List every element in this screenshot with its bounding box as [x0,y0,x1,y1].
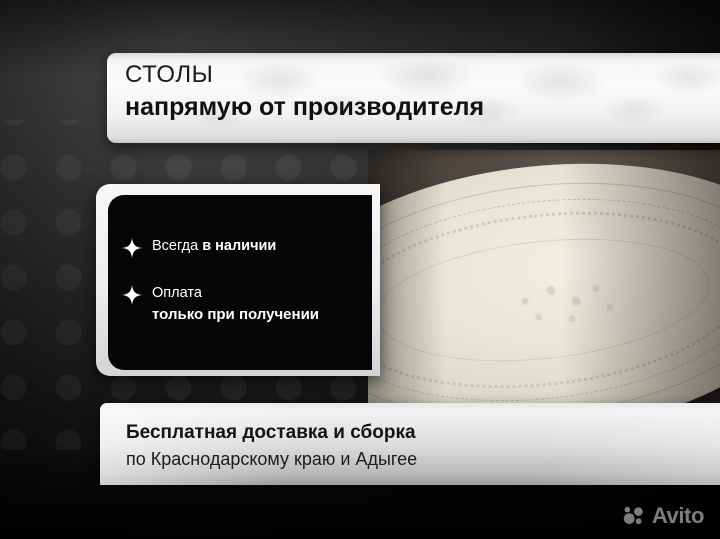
feature-card-panel: Всегда в наличии Оплата только при получ… [108,195,372,370]
feature-1-regular: Всегда [152,238,202,254]
avito-brand-text: Avito [652,505,704,527]
sparkle-icon [122,238,142,258]
feature-2-bold-line: только при получении [152,305,319,325]
feature-1-bold: в наличии [202,238,276,254]
list-item: Всегда в наличии [122,237,366,258]
avito-watermark: Avito [623,505,704,527]
headline-secondary: напрямую от производителя [125,93,710,123]
headline-banner: СТОЛЫ напрямую от производителя [107,53,720,143]
delivery-banner: Бесплатная доставка и сборка по Краснода… [100,403,720,485]
feature-list: Всегда в наличии Оплата только при получ… [122,237,366,325]
feature-2-regular: Оплата [152,285,202,301]
avito-logo-icon [623,506,647,526]
feature-text-2: Оплата только при получении [152,284,319,325]
headline-primary: СТОЛЫ [125,62,710,89]
feature-text-1: Всегда в наличии [152,237,276,257]
sparkle-icon [122,285,142,305]
delivery-headline: Бесплатная доставка и сборка [126,421,708,445]
delivery-subline: по Краснодарскому краю и Адыгее [126,448,708,471]
list-item: Оплата только при получении [122,284,366,325]
promo-banner-image: СТОЛЫ напрямую от производителя Всегда в… [0,0,720,539]
